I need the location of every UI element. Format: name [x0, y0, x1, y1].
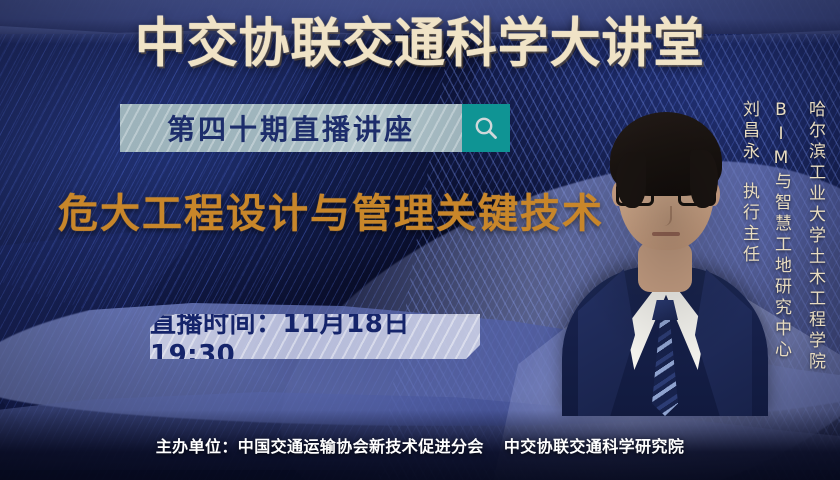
search-icon — [473, 115, 499, 141]
portrait-mouth — [652, 232, 680, 236]
speaker-research-center: BIM与智慧工地研究中心 — [769, 100, 794, 361]
broadcast-time-text: 直播时间：11月18日19:30 — [150, 314, 480, 359]
footer: 主办单位：中国交通运输协会新技术促进分会中交协联交通科学研究院 — [0, 433, 840, 457]
episode-banner: 第四十期直播讲座 — [120, 104, 510, 152]
episode-banner-body: 第四十期直播讲座 — [120, 104, 462, 152]
footer-organizer-2: 中交协联交通科学研究院 — [504, 437, 684, 456]
page-title: 中交协联交通科学大讲堂 — [17, 14, 823, 74]
speaker-affiliation: 哈尔滨工业大学土木工程学院 — [803, 100, 828, 373]
broadcast-time-banner: 直播时间：11月18日19:30 — [150, 314, 480, 359]
footer-prefix: 主办单位： — [156, 437, 238, 456]
portrait-nose — [660, 206, 672, 226]
portrait-hair — [610, 112, 722, 196]
footer-organizer-1: 中国交通运输协会新技术促进分会 — [238, 437, 484, 456]
search-icon-box[interactable] — [462, 104, 510, 152]
webinar-poster: 中交协联交通科学大讲堂 第四十期直播讲座 危大工程设计与管理关键技术 直播时间：… — [0, 0, 840, 480]
speaker-name: 刘昌永 — [737, 100, 762, 163]
lecture-title: 危大工程设计与管理关键技术 — [58, 188, 604, 240]
episode-label: 第四十期直播讲座 — [167, 108, 415, 148]
speaker-position: 执行主任 — [737, 182, 762, 266]
